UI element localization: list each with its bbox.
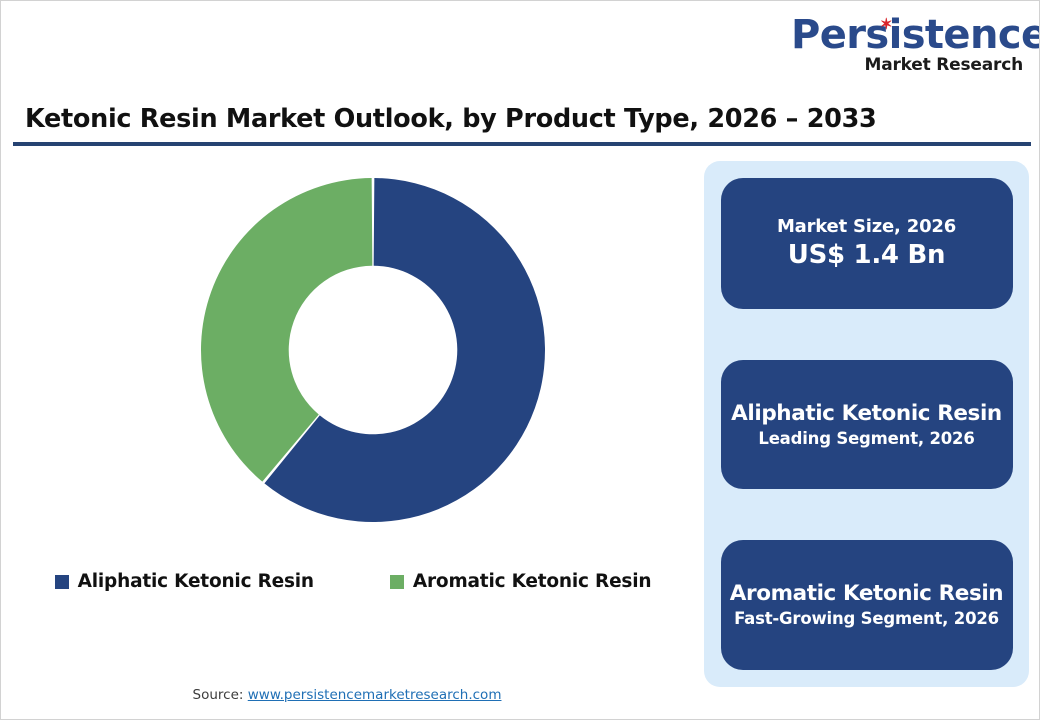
legend-swatch-aromatic: [390, 575, 404, 589]
legend-item-aliphatic: Aliphatic Ketonic Resin: [55, 571, 314, 592]
stat-card-leading-segment-value: Aliphatic Ketonic Resin: [731, 400, 1002, 428]
brand-logo: Persistence ✶ Market Research: [791, 15, 1023, 74]
source-line: Source: www.persistencemarketresearch.co…: [1, 687, 693, 703]
stat-card-fast-growing-segment-value: Aromatic Ketonic Resin: [730, 580, 1003, 608]
stat-card-leading-segment: Aliphatic Ketonic Resin Leading Segment,…: [721, 360, 1013, 489]
page-title: Ketonic Resin Market Outlook, by Product…: [25, 104, 876, 134]
stat-card-leading-segment-label: Leading Segment, 2026: [758, 428, 974, 449]
stat-card-fast-growing-segment-label: Fast-Growing Segment, 2026: [734, 608, 999, 629]
stat-card-market-size-label: Market Size, 2026: [777, 216, 956, 239]
legend-label-aromatic: Aromatic Ketonic Resin: [413, 571, 651, 592]
source-prefix: Source:: [193, 687, 248, 703]
stat-card-market-size: Market Size, 2026 US$ 1.4 Bn: [721, 178, 1013, 309]
highlights-panel: Market Size, 2026 US$ 1.4 Bn Aliphatic K…: [704, 161, 1029, 687]
title-divider: [13, 142, 1031, 146]
legend-item-aromatic: Aromatic Ketonic Resin: [390, 571, 651, 592]
stat-card-fast-growing-segment: Aromatic Ketonic Resin Fast-Growing Segm…: [721, 540, 1013, 670]
donut-chart-svg: [199, 176, 547, 524]
brand-star-icon: ✶: [880, 17, 893, 32]
legend-label-aliphatic: Aliphatic Ketonic Resin: [78, 571, 314, 592]
donut-chart: [199, 176, 547, 524]
source-link[interactable]: www.persistencemarketresearch.com: [248, 687, 502, 703]
donut-slices: [201, 178, 545, 522]
legend-swatch-aliphatic: [55, 575, 69, 589]
chart-legend: Aliphatic Ketonic Resin Aromatic Ketonic…: [13, 571, 693, 592]
brand-logo-tagline: Market Research: [791, 57, 1023, 74]
infographic-page: Persistence ✶ Market Research Ketonic Re…: [0, 0, 1040, 720]
chart-area: Aliphatic Ketonic Resin Aromatic Ketonic…: [13, 151, 693, 621]
stat-card-market-size-value: US$ 1.4 Bn: [788, 239, 945, 272]
brand-logo-wordmark: Persistence: [791, 15, 1023, 55]
